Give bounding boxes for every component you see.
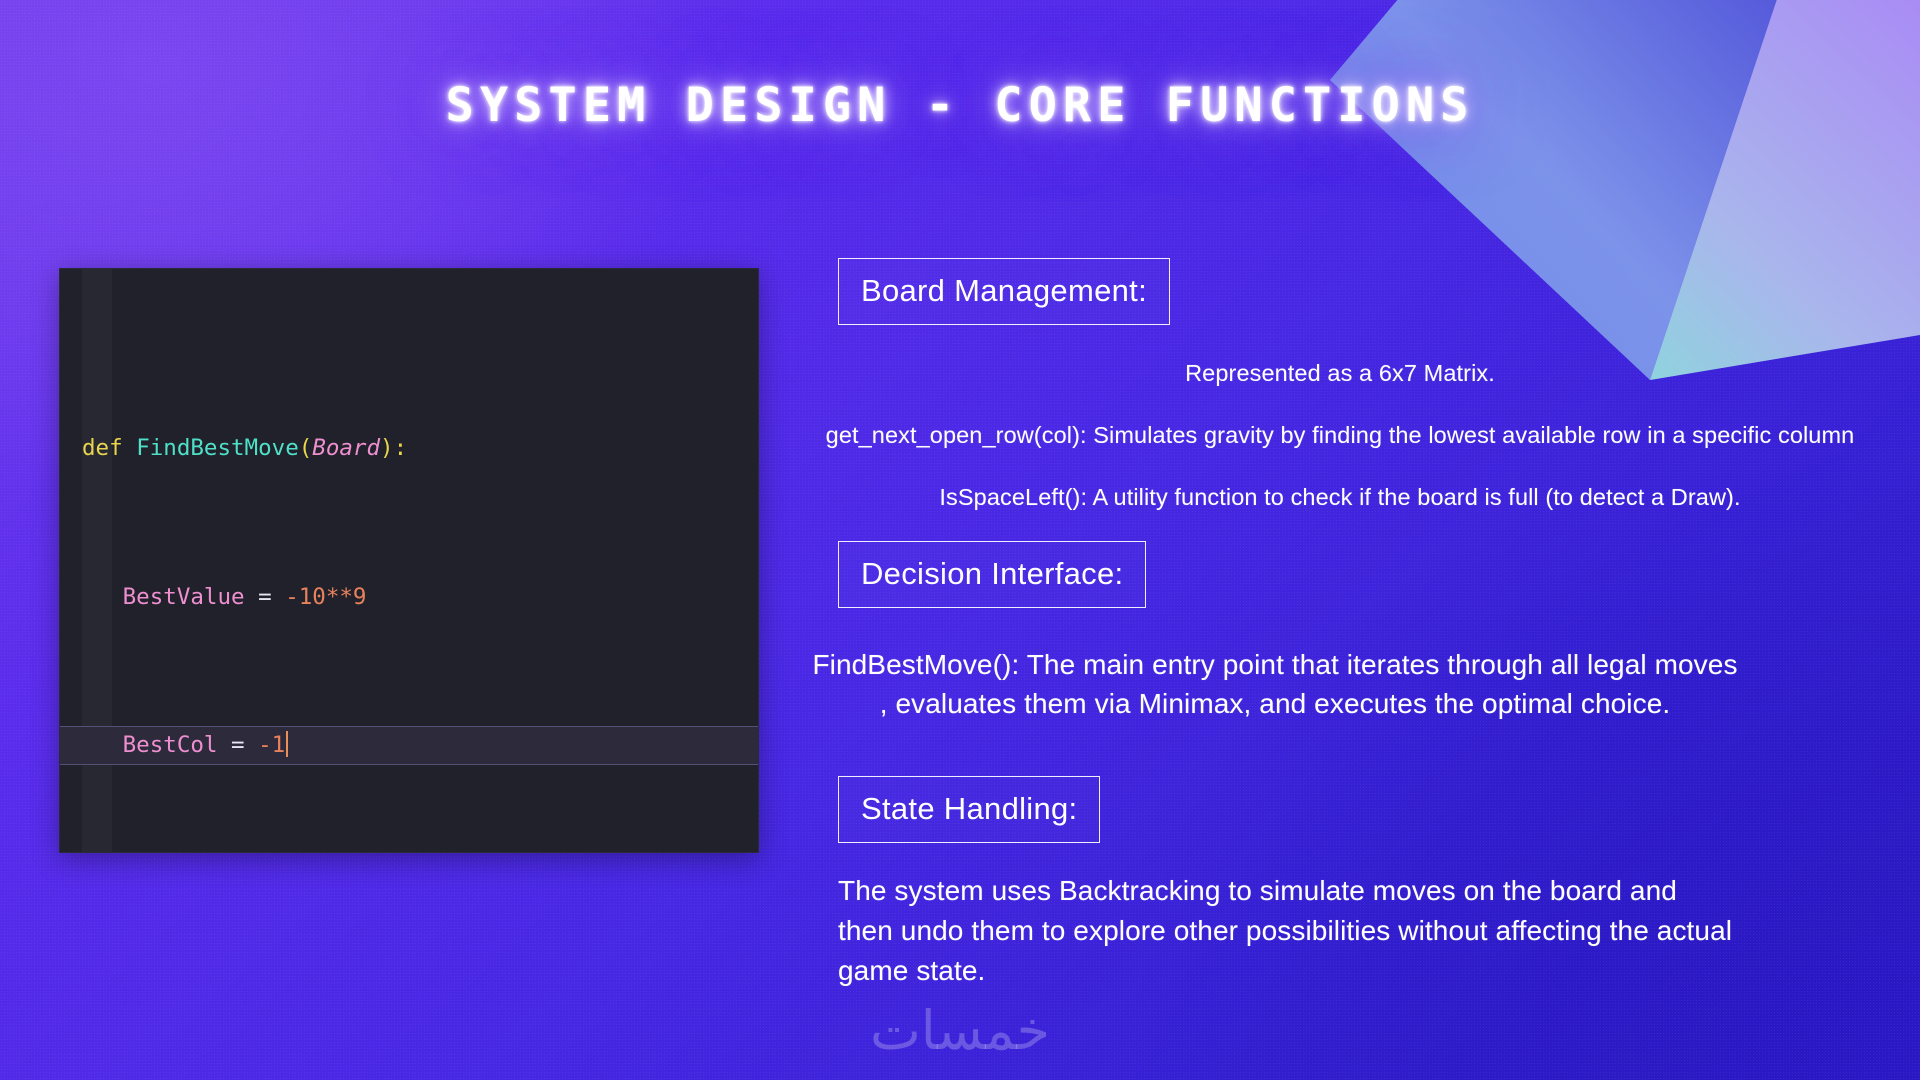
state-handling-text: The system uses Backtracking to simulate…	[838, 871, 1738, 990]
board-management-line-3: IsSpaceLeft(): A utility function to che…	[760, 482, 1920, 513]
watermark: خمسات	[0, 999, 1920, 1062]
board-management-heading: Board Management:	[838, 258, 1170, 325]
board-management-line-2: get_next_open_row(col): Simulates gravit…	[640, 420, 1920, 451]
decision-interface-heading: Decision Interface:	[838, 541, 1146, 608]
decision-interface-text: FindBestMove(): The main entry point tha…	[630, 645, 1920, 723]
text-caret	[286, 731, 288, 757]
content-column: Board Management: Represented as a 6x7 M…	[760, 0, 1920, 1080]
board-management-heading-wrap: Board Management:	[838, 258, 1170, 325]
decision-interface-heading-wrap: Decision Interface:	[838, 541, 1146, 608]
code-snippet-panel: def FindBestMove(Board): BestValue = -10…	[59, 268, 759, 853]
state-handling-heading: State Handling:	[838, 776, 1100, 843]
code-line: BestValue = -10**9	[60, 579, 758, 616]
board-management-line-1: Represented as a 6x7 Matrix.	[760, 358, 1920, 389]
code-line-highlighted: BestCol = -1	[60, 727, 758, 764]
decision-interface-text-line-1: FindBestMove(): The main entry point tha…	[630, 645, 1920, 684]
code-surface: def FindBestMove(Board): BestValue = -10…	[60, 269, 758, 853]
state-handling-heading-wrap: State Handling:	[838, 776, 1100, 843]
indent-guide	[82, 269, 112, 853]
decision-interface-text-line-2: , evaluates them via Minimax, and execut…	[630, 684, 1920, 723]
